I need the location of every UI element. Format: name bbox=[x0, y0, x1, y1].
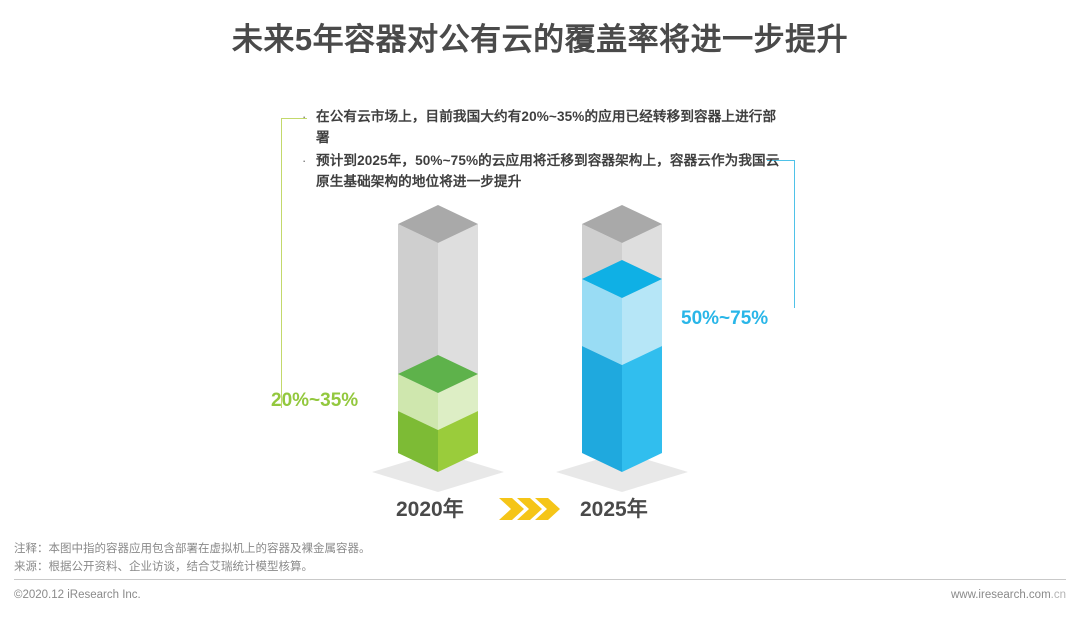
column-2020 bbox=[372, 205, 504, 492]
column-blue-band-top-2025 bbox=[582, 260, 662, 298]
column-green-band-top-2020 bbox=[398, 355, 478, 393]
column-green-band-right-2020 bbox=[438, 374, 478, 430]
footnotes: 注释：本图中指的容器应用包含部署在虚拟机上的容器及裸金属容器。 来源：根据公开资… bbox=[14, 541, 1066, 576]
website-url-tld: .cn bbox=[1051, 589, 1066, 601]
footer-divider bbox=[14, 579, 1066, 580]
column-blue-solid-left-2025 bbox=[582, 346, 622, 472]
bullet-text: 预计到2025年，50%~75%的云应用将迁移到容器架构上，容器云作为我国云原生… bbox=[316, 150, 780, 192]
column-gray-right-face-2020 bbox=[438, 224, 478, 393]
bullet-marker-icon: · bbox=[300, 106, 316, 127]
category-label-2025: 2025年 bbox=[580, 493, 648, 523]
column-blue-band-right-2025 bbox=[622, 279, 662, 365]
page-title: 未来5年容器对公有云的覆盖率将进一步提升 bbox=[0, 14, 1080, 59]
column-gray-top-face-2020 bbox=[398, 205, 478, 243]
column-green-solid-right-2020 bbox=[438, 411, 478, 472]
website-url-main: www.iresearch.com bbox=[951, 589, 1051, 601]
column-base-shadow-2020 bbox=[372, 452, 504, 492]
range-label-2020: 20%~35% bbox=[271, 390, 358, 412]
bullet-list: · 在公有云市场上，目前我国大约有20%~35%的应用已经转移到容器上进行部署 … bbox=[300, 106, 780, 194]
copyright-text: ©2020.12 iResearch Inc. bbox=[14, 589, 141, 601]
column-2025 bbox=[556, 205, 688, 492]
column-gray-top-face-2025 bbox=[582, 205, 662, 243]
list-item: · 在公有云市场上，目前我国大约有20%~35%的应用已经转移到容器上进行部署 bbox=[300, 106, 780, 148]
bracket-vertical-line bbox=[281, 118, 282, 408]
column-gray-left-face-2020 bbox=[398, 224, 438, 393]
bracket-vertical-line bbox=[794, 160, 795, 308]
column-green-band-left-2020 bbox=[398, 374, 438, 430]
bar-chart bbox=[0, 0, 1080, 618]
website-url: www.iresearch.com.cn bbox=[951, 589, 1066, 601]
footnote-remark: 注释：本图中指的容器应用包含部署在虚拟机上的容器及裸金属容器。 bbox=[14, 541, 1066, 559]
column-gray-left-face-2025 bbox=[582, 224, 622, 298]
column-blue-solid-right-2025 bbox=[622, 346, 662, 472]
column-blue-band-left-2025 bbox=[582, 279, 622, 365]
column-base-shadow-2025 bbox=[556, 452, 688, 492]
list-item: · 预计到2025年，50%~75%的云应用将迁移到容器架构上，容器云作为我国云… bbox=[300, 150, 780, 192]
bullet-text: 在公有云市场上，目前我国大约有20%~35%的应用已经转移到容器上进行部署 bbox=[316, 106, 780, 148]
range-label-2025: 50%~75% bbox=[681, 308, 768, 330]
category-label-2020: 2020年 bbox=[396, 493, 464, 523]
column-gray-right-face-2025 bbox=[622, 224, 662, 298]
slide-canvas: 未来5年容器对公有云的覆盖率将进一步提升 · 在公有云市场上，目前我国大约有20… bbox=[0, 0, 1080, 618]
footnote-source: 来源：根据公开资料、企业访谈，结合艾瑞统计模型核算。 bbox=[14, 559, 1066, 577]
bullet-marker-icon: · bbox=[300, 150, 316, 171]
column-green-solid-left-2020 bbox=[398, 411, 438, 472]
chevrons-right-icon bbox=[499, 498, 560, 520]
